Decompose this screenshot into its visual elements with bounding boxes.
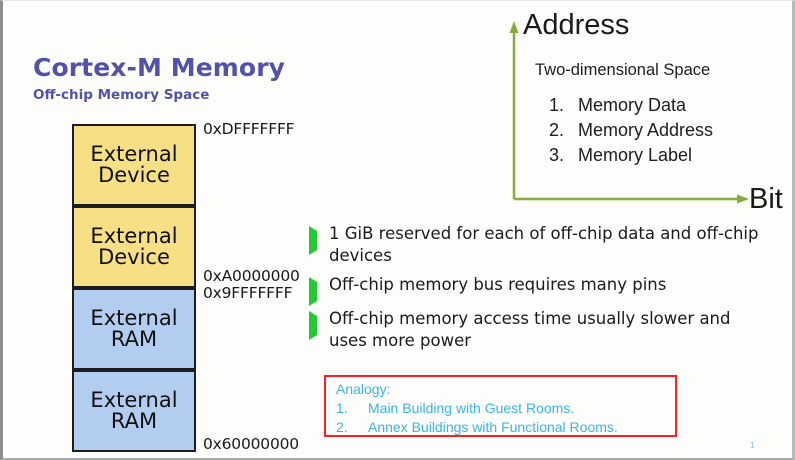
triangle-bullet-icon xyxy=(309,308,329,335)
list-item-label: Annex Buildings with Functional Rooms. xyxy=(368,418,618,437)
two-dimensional-space-list: 1. Memory Data 2. Memory Address 3. Memo… xyxy=(533,95,713,170)
list-item-label: Memory Data xyxy=(578,95,686,116)
two-dimensional-space-caption: Two-dimensional Space xyxy=(535,61,710,80)
triangle-bullet-icon xyxy=(309,223,329,250)
page-subtitle: Off-chip Memory Space xyxy=(33,87,209,103)
bullet-text: 1 GiB reserved for each of off-chip data… xyxy=(329,223,761,267)
bullet-list: 1 GiB reserved for each of off-chip data… xyxy=(309,223,761,359)
memory-block-external-ram-bottom: External RAM xyxy=(72,370,196,452)
analogy-callout-box: Analogy: 1. Main Building with Guest Roo… xyxy=(324,375,677,437)
memory-block-line2: RAM xyxy=(111,411,157,432)
list-item: Off-chip memory bus requires many pins xyxy=(309,274,761,301)
page-number: 1 xyxy=(750,441,754,450)
memory-block-line2: Device xyxy=(98,165,170,186)
memory-block-external-ram-top: External RAM xyxy=(72,288,196,370)
memory-block-external-device-top: External Device xyxy=(72,124,196,206)
bullet-text: Off-chip memory bus requires many pins xyxy=(329,274,666,296)
list-item: 3. Memory Label xyxy=(533,145,713,170)
bullet-text: Off-chip memory access time usually slow… xyxy=(329,308,761,352)
list-item: 2. Annex Buildings with Functional Rooms… xyxy=(336,418,675,437)
list-item-number: 3. xyxy=(533,145,578,166)
memory-block-external-device-bottom: External Device xyxy=(72,206,196,288)
address-label-mid-upper: 0xA0000000 xyxy=(203,267,300,285)
list-item-label: Memory Address xyxy=(578,120,713,141)
memory-block-line1: External xyxy=(90,390,177,411)
list-item-label: Main Building with Guest Rooms. xyxy=(368,399,574,418)
memory-block-line1: External xyxy=(90,144,177,165)
slide-canvas: Cortex-M Memory Off-chip Memory Space Ex… xyxy=(0,0,795,460)
memory-map-diagram: External Device External Device External… xyxy=(72,124,196,452)
list-item: Off-chip memory access time usually slow… xyxy=(309,308,761,352)
list-item: 1. Memory Data xyxy=(533,95,713,120)
y-axis-label: Address xyxy=(523,9,629,42)
list-item-number: 2. xyxy=(336,418,368,437)
address-label-mid-lower: 0x9FFFFFFF xyxy=(203,284,292,302)
list-item-label: Memory Label xyxy=(578,145,692,166)
memory-block-line1: External xyxy=(90,308,177,329)
memory-block-line2: RAM xyxy=(111,329,157,350)
analogy-heading: Analogy: xyxy=(336,381,675,399)
list-item: 2. Memory Address xyxy=(533,120,713,145)
x-axis-label: Bit xyxy=(749,183,783,216)
list-item-number: 1. xyxy=(533,95,578,116)
list-item-number: 1. xyxy=(336,399,368,418)
memory-block-line2: Device xyxy=(98,247,170,268)
list-item: 1. Main Building with Guest Rooms. xyxy=(336,399,675,418)
address-label-top: 0xDFFFFFFF xyxy=(203,120,294,138)
memory-block-line1: External xyxy=(90,226,177,247)
list-item-number: 2. xyxy=(533,120,578,141)
address-label-bottom: 0x60000000 xyxy=(203,435,299,453)
page-title: Cortex-M Memory xyxy=(33,53,285,82)
list-item: 1 GiB reserved for each of off-chip data… xyxy=(309,223,761,267)
triangle-bullet-icon xyxy=(309,274,329,301)
two-dimensional-space-diagram: Address Bit Two-dimensional Space 1. Mem… xyxy=(501,13,786,203)
